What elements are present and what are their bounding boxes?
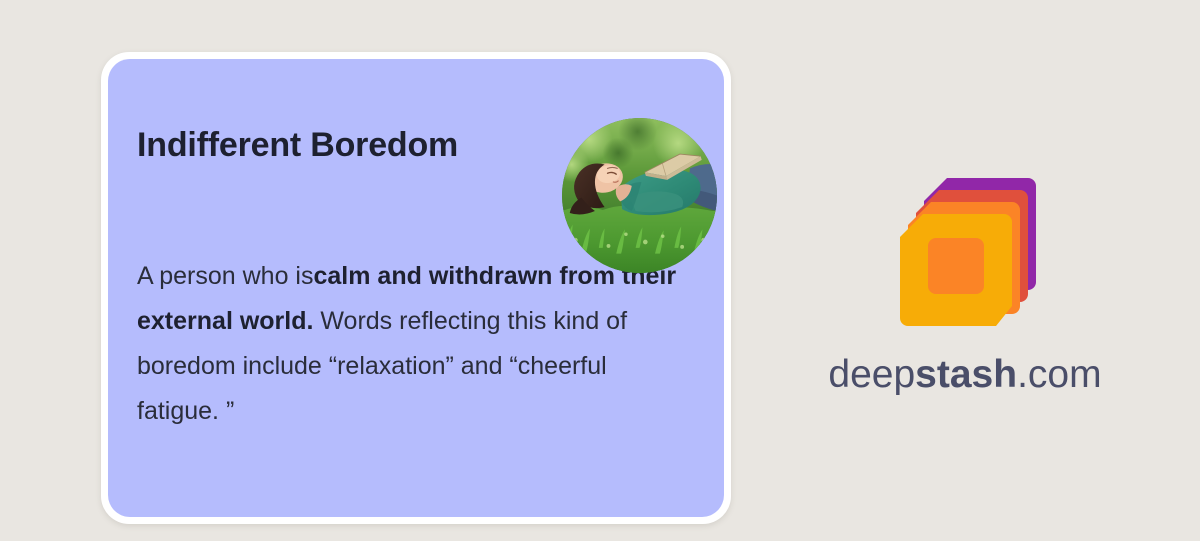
idea-card-content: Indifferent Boredom A person who iscalm … — [137, 59, 700, 517]
woman-relaxing-on-grass-photo — [562, 118, 717, 273]
brand-block: deepstash.com — [800, 160, 1130, 395]
wordmark-stash: stash — [915, 353, 1017, 396]
wordmark-domain: .com — [1017, 353, 1102, 396]
deepstash-wordmark[interactable]: deepstash.com — [800, 353, 1130, 397]
page-title: Indifferent Boredom — [137, 120, 507, 170]
idea-card[interactable]: Indifferent Boredom A person who iscalm … — [108, 59, 724, 517]
wordmark-deep: deep — [828, 353, 915, 396]
idea-body-lead: A person who is — [137, 262, 314, 290]
deepstash-stacked-cards-logo[interactable] — [892, 160, 1052, 340]
page-root: Indifferent Boredom A person who iscalm … — [0, 0, 1200, 541]
idea-card-body: A person who iscalm and withdrawn from t… — [137, 254, 685, 434]
